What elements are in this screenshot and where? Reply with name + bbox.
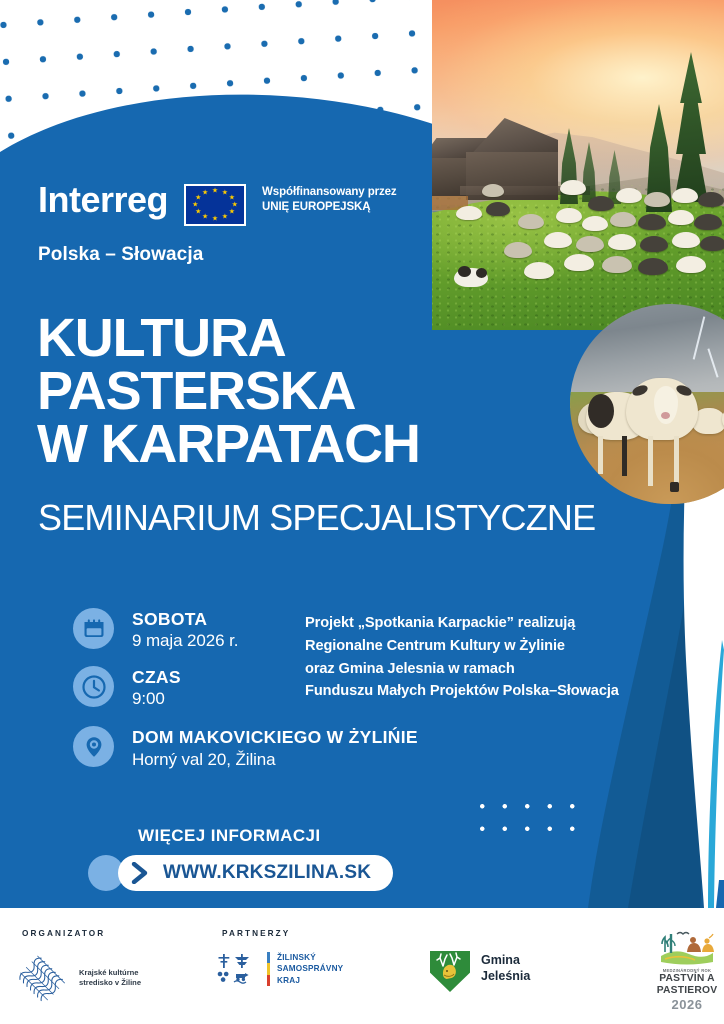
more-info-label: WIĘCEJ INFORMACJI (138, 826, 320, 846)
interreg-logo-block: Interreg Współfinansowany przez UNIĘ EUR… (38, 182, 397, 226)
eu-funding-text: Współfinansowany przez UNIĘ EUROPEJSKĄ (262, 185, 397, 214)
project-note-line-3: oraz Gmina Jelesnia w ramach (305, 658, 619, 681)
organizer-name: Krajské kultúrne stredisko v Žiline (79, 968, 141, 989)
eu-flag-icon (184, 184, 246, 226)
headline-line-2: PASTERSKA (37, 365, 420, 418)
partner-logo-zsk: ŽILINSKÝ SAMOSPRÁVNY KRAJ (216, 952, 343, 986)
zsk-color-bars (267, 952, 270, 986)
grazing-year-icon (657, 926, 717, 966)
detail-title-venue: DOM MAKOVICKIEGO W ŻYLIŃIE (132, 727, 418, 747)
headline-line-1: KULTURA (37, 312, 420, 365)
grazing-year-year: 2026 (655, 997, 719, 1012)
website-url-text: WWW.KRKSZILINA.SK (163, 862, 371, 884)
grazing-year-name-line-1: PASTVÍN A (655, 973, 719, 985)
project-note-line-1: Projekt „Spotkania Karpackie” realizują (305, 612, 619, 635)
website-link-button[interactable]: WWW.KRKSZILINA.SK (118, 855, 393, 891)
detail-subtitle-date: 9 maja 2026 r. (132, 630, 238, 652)
page-subtitle: SEMINARIUM SPECJALISTYCZNE (38, 497, 595, 539)
kks-ornament-icon (18, 950, 70, 1006)
detail-text-venue: DOM MAKOVICKIEGO W ŻYLIŃIE Horný val 20,… (132, 726, 418, 770)
detail-row-venue: DOM MAKOVICKIEGO W ŻYLIŃIE Horný val 20,… (73, 726, 418, 770)
gmina-name-line-2: Jeleśnia (481, 969, 530, 985)
interreg-programme-label: Polska – Słowacja (38, 244, 203, 266)
headline-line-3: W KARPATACH (37, 418, 420, 471)
zsk-pictogram-icon (216, 952, 260, 986)
eu-funding-line-1: Współfinansowany przez (262, 185, 397, 200)
detail-subtitle-venue: Horný val 20, Žilina (132, 749, 418, 771)
organizer-label: ORGANIZATOR (22, 929, 105, 938)
project-note: Projekt „Spotkania Karpackie” realizują … (305, 612, 619, 703)
zsk-name-line-1: ŽILINSKÝ (277, 952, 343, 963)
location-pin-icon (73, 726, 114, 767)
partner-name-gmina: Gmina Jeleśnia (481, 953, 530, 984)
zsk-name-line-3: KRAJ (277, 975, 343, 986)
clock-icon (73, 666, 114, 707)
project-note-line-2: Regionalne Centrum Kultury w Żylinie (305, 635, 619, 658)
organizer-logo-kks: Krajské kultúrne stredisko v Žiline (18, 950, 141, 1006)
interreg-wordmark: Interreg (38, 182, 168, 218)
calendar-icon (73, 608, 114, 649)
partners-label: PARTNERZY (222, 929, 290, 938)
poster-content: Interreg Współfinansowany przez UNIĘ EUR… (0, 0, 724, 1024)
zsk-name-line-2: SAMOSPRÁVNY (277, 963, 343, 974)
eu-funding-line-2: UNIĘ EUROPEJSKĄ (262, 200, 397, 215)
footer-logos-bar: ORGANIZATOR PARTNERZY Krajské kultúrne s… (0, 908, 724, 1024)
organizer-name-line-1: Krajské kultúrne (79, 968, 141, 978)
page-title: KULTURA PASTERSKA W KARPATACH (37, 312, 420, 471)
partner-logo-grazing-year: MEDZINÁRODNÝ ROK PASTVÍN A PASTIEROV 202… (655, 926, 719, 1012)
poster-root: Interreg Współfinansowany przez UNIĘ EUR… (0, 0, 724, 1024)
detail-title-time: CZAS (132, 667, 181, 687)
chevron-right-icon (131, 862, 151, 884)
partner-logo-gmina-jelesnia: Gmina Jeleśnia (430, 946, 530, 992)
grazing-year-name-line-2: PASTIEROV (655, 985, 719, 997)
project-note-line-4: Funduszu Małych Projektów Polska–Słowacj… (305, 680, 619, 703)
detail-subtitle-time: 9:00 (132, 688, 181, 710)
detail-title-date: SOBOTA (132, 609, 238, 629)
organizer-name-line-2: stredisko v Žiline (79, 978, 141, 988)
deer-shield-icon (430, 946, 470, 992)
detail-text-time: CZAS 9:00 (132, 666, 181, 710)
detail-text-date: SOBOTA 9 maja 2026 r. (132, 608, 238, 652)
gmina-name-line-1: Gmina (481, 953, 530, 969)
partner-name-zsk: ŽILINSKÝ SAMOSPRÁVNY KRAJ (277, 952, 343, 985)
